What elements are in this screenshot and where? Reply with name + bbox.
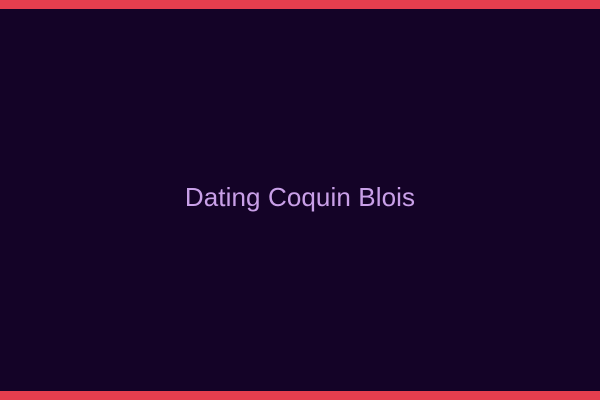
page-root: Dating Coquin Blois xyxy=(0,0,600,400)
page-title: Dating Coquin Blois xyxy=(185,183,415,218)
top-accent-bar xyxy=(0,0,600,9)
bottom-accent-bar xyxy=(0,391,600,400)
main-stage: Dating Coquin Blois xyxy=(0,9,600,391)
